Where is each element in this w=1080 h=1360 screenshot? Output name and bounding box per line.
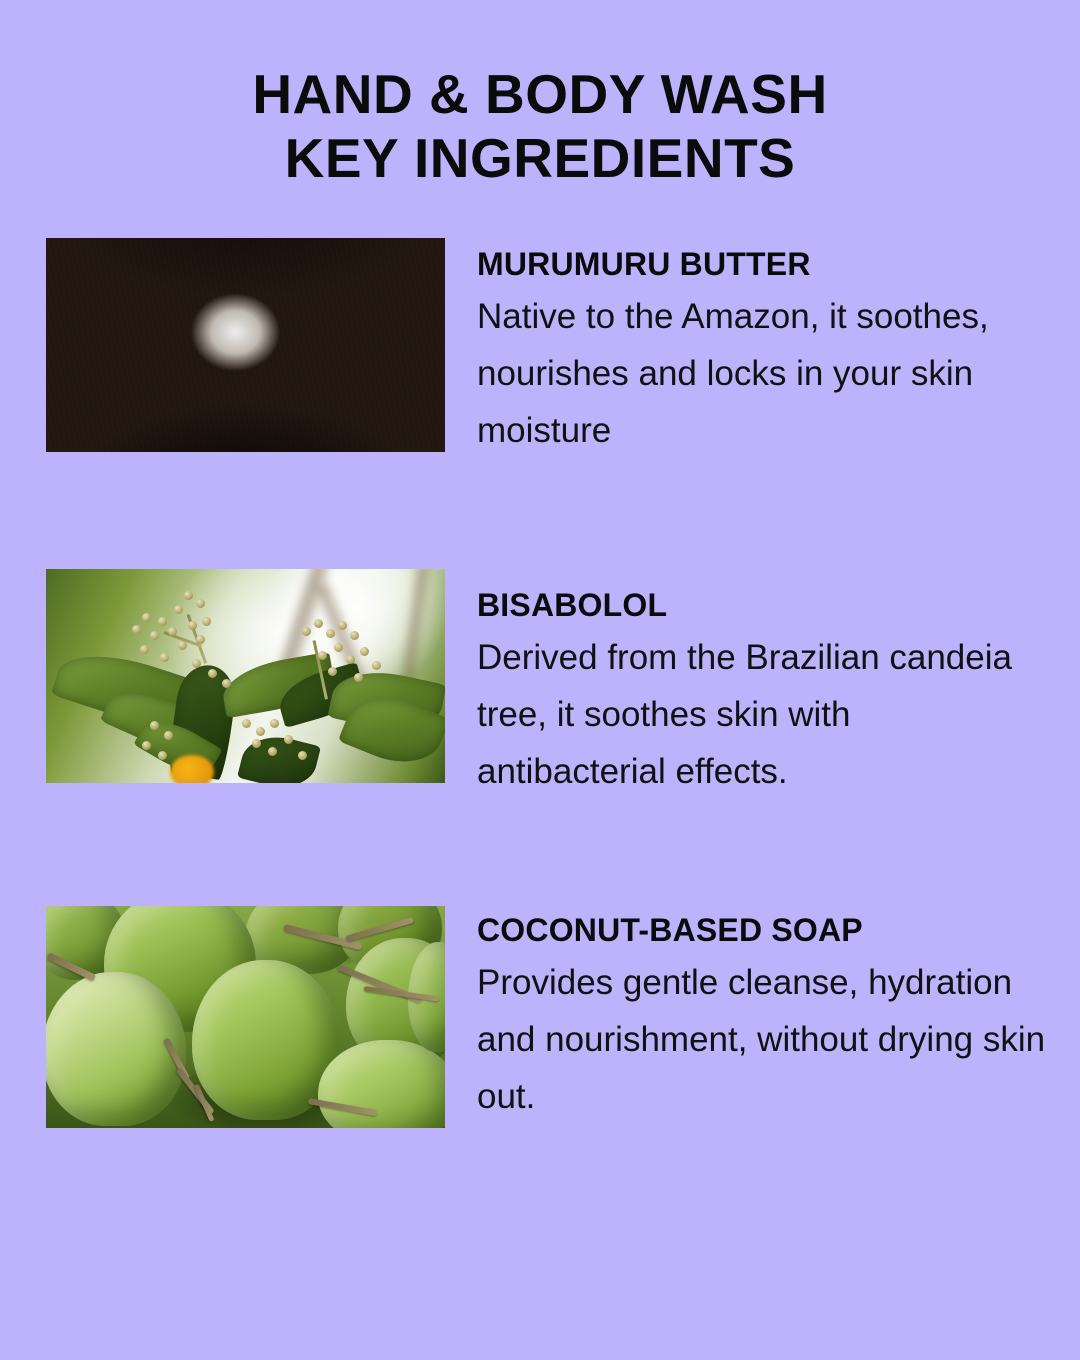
flower-bud (150, 721, 159, 730)
flower-bud (372, 661, 381, 670)
page-title: HAND & BODY WASH KEY INGREDIENTS (0, 62, 1080, 190)
ingredient-row-bisabolol: BISABOLOL Derived from the Brazilian can… (46, 569, 1046, 800)
coconut (46, 972, 186, 1126)
ingredient-name-murumuru-butter: MURUMURU BUTTER (477, 244, 1046, 284)
title-line-1: HAND & BODY WASH (0, 62, 1080, 126)
flower-bud (208, 669, 217, 678)
green-coconuts-image (46, 906, 445, 1128)
title-line-2: KEY INGREDIENTS (0, 126, 1080, 190)
flower-bud (242, 719, 251, 728)
flower-bud (334, 643, 343, 652)
ingredient-name-coconut-based-soap: COCONUT-BASED SOAP (477, 910, 1046, 950)
leaf (237, 729, 321, 783)
flower-bud (158, 617, 167, 626)
flower-bud (188, 621, 197, 630)
flower-bud (142, 741, 151, 750)
ingredient-text-column: MURUMURU BUTTER Native to the Amazon, it… (445, 238, 1046, 459)
flower-bud (142, 613, 151, 622)
orange-blur-highlight (170, 755, 214, 783)
flower-bud (328, 667, 337, 676)
ingredient-row-murumuru-butter: MURUMURU BUTTER Native to the Amazon, it… (46, 238, 1046, 459)
flower-bud (158, 751, 167, 760)
ingredient-description-murumuru-butter: Native to the Amazon, it soothes, nouris… (477, 288, 1046, 459)
flower-bud (314, 619, 323, 628)
flower-bud (196, 635, 205, 644)
flower-bud (174, 605, 183, 614)
ingredient-text-column: COCONUT-BASED SOAP Provides gentle clean… (445, 906, 1046, 1125)
flower-bud (318, 651, 327, 660)
ingredient-name-bisabolol: BISABOLOL (477, 585, 1046, 625)
flower-bud (256, 727, 265, 736)
flower-bud (360, 647, 369, 656)
ingredient-description-coconut-based-soap: Provides gentle cleanse, hydration and n… (477, 954, 1046, 1125)
flower-bud (164, 731, 173, 740)
flower-bud (298, 751, 307, 760)
flower-bud (302, 627, 311, 636)
flower-bud (140, 645, 149, 654)
flower-bud (338, 621, 347, 630)
flower-bud (270, 719, 279, 728)
flower-bud (222, 679, 231, 688)
flower-bud (346, 655, 355, 664)
ingredient-row-coconut-based-soap: COCONUT-BASED SOAP Provides gentle clean… (46, 906, 1046, 1128)
ingredient-text-column: BISABOLOL Derived from the Brazilian can… (445, 569, 1046, 800)
flower-bud (284, 735, 293, 744)
flower-bud (350, 631, 359, 640)
flower-bud (192, 659, 201, 668)
flower-bud (168, 627, 177, 636)
candeia-tree-image (46, 569, 445, 783)
flower-bud (160, 653, 169, 662)
flower-bud (326, 629, 335, 638)
flower-bud (132, 625, 141, 634)
flower-bud (196, 599, 205, 608)
flower-bud (354, 673, 363, 682)
flower-bud (150, 631, 159, 640)
flower-bud (268, 747, 277, 756)
flower-bud (178, 641, 187, 650)
murumuru-nuts-image (46, 238, 445, 452)
flower-bud (202, 617, 211, 626)
ingredient-description-bisabolol: Derived from the Brazilian candeia tree,… (477, 629, 1046, 800)
flower-bud (252, 739, 261, 748)
flower-bud (184, 591, 193, 600)
